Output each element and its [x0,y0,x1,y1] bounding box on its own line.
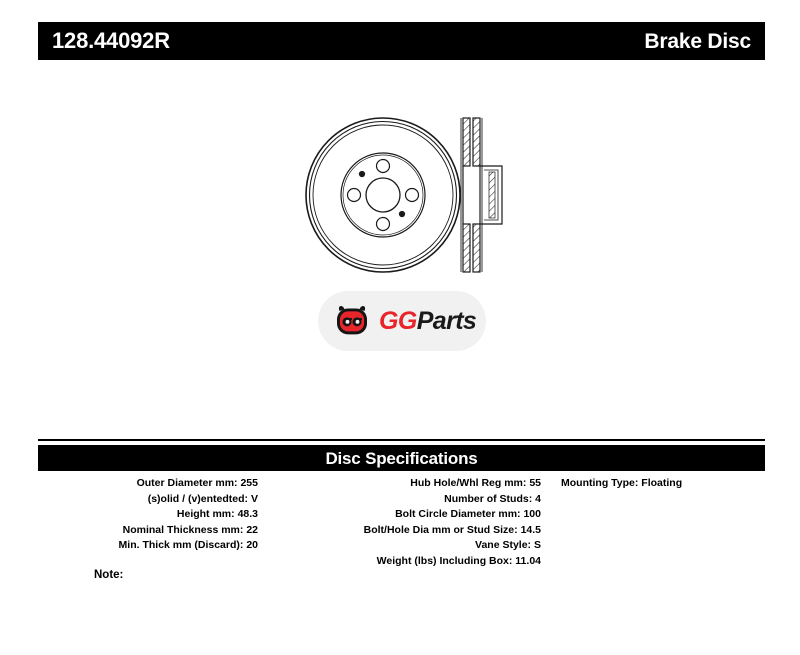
spec-section-title: Disc Specifications [325,450,477,467]
note-line: Note: [94,570,327,582]
spec-row: Outer Diameter mm: 255 [38,476,258,492]
spec-value: 255 [240,477,258,489]
wordmark-parts: Parts [417,307,477,335]
spec-label: Number of Studs: [444,493,532,505]
note-label: Note: [94,569,123,581]
brake-rotor-technical-drawing [303,100,513,290]
spec-value: S [534,539,541,551]
spec-label: Min. Thick mm (Discard): [119,539,244,551]
product-drawing-area [38,70,765,420]
spec-column-middle: Hub Hole/Whl Reg mm: 55 Number of Studs:… [262,476,545,569]
spec-row: Weight (lbs) Including Box: 11.04 [262,554,541,570]
rotor-section-view [461,118,502,272]
spec-label: Bolt Circle Diameter mm: [395,508,520,520]
spec-column-right: Mounting Type: Floating [545,476,765,569]
spec-row: Hub Hole/Whl Reg mm: 55 [262,476,541,492]
spec-label: Weight (lbs) Including Box: [377,555,513,567]
spec-row: Bolt/Hole Dia mm or Stud Size: 14.5 [262,523,541,539]
ggparts-wordmark: GGParts [379,309,476,334]
spec-label: Nominal Thickness mm: [123,524,244,536]
spec-row: Mounting Type: Floating [561,476,765,492]
spec-value: 48.3 [238,508,258,520]
rotor-front-view [306,118,460,272]
spec-row: Min. Thick mm (Discard): 20 [38,538,258,554]
part-number-label: 128.44092R [52,30,170,52]
spec-label: Vane Style: [475,539,531,551]
spec-label: Bolt/Hole Dia mm or Stud Size: [364,524,518,536]
spec-section-header: Disc Specifications [38,445,765,471]
spec-column-left: Outer Diameter mm: 255 (s)olid / (v)ente… [38,476,262,569]
header-bar: 128.44092R Brake Disc [38,22,765,60]
spec-value: Floating [641,477,682,489]
spec-row: Number of Studs: 4 [262,492,541,508]
spec-value: 4 [535,493,541,505]
spec-value: 55 [529,477,541,489]
spec-row: Vane Style: S [262,538,541,554]
spec-row: Height mm: 48.3 [38,507,258,523]
wordmark-gg: GG [379,307,417,335]
ggparts-mascot-icon [332,301,372,341]
spec-label: (s)olid / (v)entedted: [148,493,248,505]
spec-value: 20 [246,539,258,551]
spec-label: Mounting Type: [561,477,638,489]
spec-row: Bolt Circle Diameter mm: 100 [262,507,541,523]
spec-label: Height mm: [177,508,235,520]
product-title-label: Brake Disc [644,31,751,52]
ggparts-watermark: GGParts [318,291,486,351]
spec-row: (s)olid / (v)entedted: V [38,492,258,508]
spec-table: Outer Diameter mm: 255 (s)olid / (v)ente… [38,476,765,569]
spec-value: 11.04 [515,555,541,567]
spec-value: 14.5 [521,524,541,536]
section-divider [38,439,765,441]
spec-label: Outer Diameter mm: [137,477,238,489]
spec-label: Hub Hole/Whl Reg mm: [410,477,526,489]
spec-value: V [251,493,258,505]
spec-value: 100 [523,508,541,520]
spec-value: 22 [246,524,258,536]
spec-row: Nominal Thickness mm: 22 [38,523,258,539]
